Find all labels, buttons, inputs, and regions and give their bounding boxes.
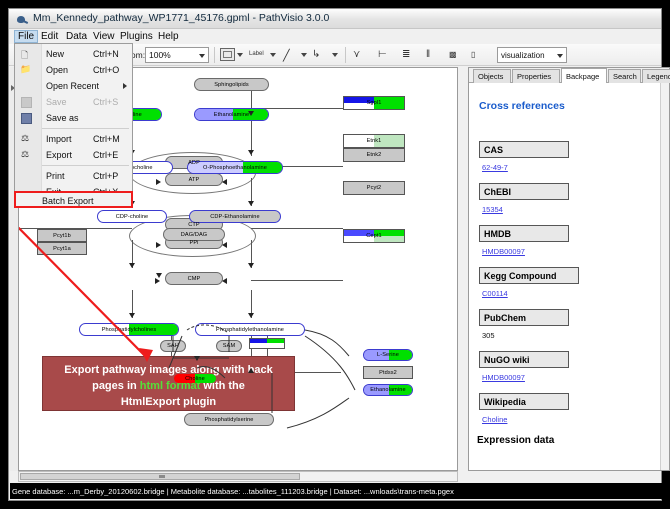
zoom-combobox[interactable]: 100% <box>145 47 209 63</box>
visualization-combobox[interactable]: visualization <box>497 47 567 63</box>
import-icon: ⚖ <box>21 133 29 144</box>
expression-data-title: Expression data <box>477 435 554 446</box>
file-menu-popup[interactable]: 🗋 New Ctrl+N 📁 Open Ctrl+O Open Recent S… <box>14 43 133 205</box>
export-icon: ⚖ <box>21 149 29 160</box>
menu-item-batch-export[interactable]: Batch Export <box>14 191 133 208</box>
menu-item-new-label: New <box>46 49 64 59</box>
xref-source-chebi: ChEBI <box>479 183 569 200</box>
common-height-icon: ▯ <box>471 50 475 59</box>
xref-value-wikipedia[interactable]: Choline <box>482 415 507 424</box>
chevron-down-icon <box>270 53 276 57</box>
status-bar: Gene database: ...m_Derby_20120602.bridg… <box>10 483 662 499</box>
tab-legend[interactable]: Legend <box>642 69 670 83</box>
side-panel: Objects Properties Backpage Search Legen… <box>468 67 670 471</box>
menu-item-print-label: Print <box>46 171 65 181</box>
xref-source-wikipedia: Wikipedia <box>479 393 569 410</box>
distribute-vertical-icon: ≣ <box>402 49 410 60</box>
pathvisio-icon <box>15 13 28 26</box>
menu-item-export[interactable]: ⚖ Export Ctrl+E <box>15 147 132 163</box>
menu-plugins[interactable]: Plugins <box>116 30 157 43</box>
title-bar: Mm_Kennedy_pathway_WP1771_45176.gpml - P… <box>9 9 661 29</box>
menu-item-print-shortcut: Ctrl+P <box>93 171 118 181</box>
open-folder-icon: 📁 <box>20 64 31 75</box>
xref-value-chebi[interactable]: 15354 <box>482 205 503 214</box>
common-width-button[interactable]: ▩ <box>449 47 463 63</box>
screenshot-root: Mm_Kennedy_pathway_WP1771_45176.gpml - P… <box>0 0 670 509</box>
zoom-value: 100% <box>149 50 171 60</box>
menu-item-batch-export-label: Batch Export <box>42 196 94 206</box>
menu-data[interactable]: Data <box>62 30 91 43</box>
gene-box-icon <box>220 48 235 61</box>
align-top-button[interactable]: ⋎ <box>353 47 367 63</box>
canvas-horizontal-scrollbar[interactable] <box>18 471 458 482</box>
tab-search[interactable]: Search <box>608 69 641 83</box>
label-tool-button[interactable]: Label <box>249 47 279 63</box>
line-tool-button[interactable]: ╱ <box>283 47 309 63</box>
tab-backpage[interactable]: Backpage <box>561 68 607 83</box>
menu-separator <box>42 128 129 129</box>
menu-item-print[interactable]: Print Ctrl+P <box>15 168 132 184</box>
menu-item-export-label: Export <box>46 150 72 160</box>
chevron-down-icon <box>332 53 338 57</box>
chevron-down-icon <box>237 53 243 57</box>
xref-value-pubchem: 305 <box>482 331 495 340</box>
menu-item-open[interactable]: 📁 Open Ctrl+O <box>15 62 132 78</box>
menu-item-export-shortcut: Ctrl+E <box>93 150 118 160</box>
menu-help[interactable]: Help <box>154 30 183 43</box>
common-height-button[interactable]: ▯ <box>471 47 485 63</box>
menu-item-import-label: Import <box>46 134 72 144</box>
save-as-icon <box>21 113 32 124</box>
distribute-horizontal-icon: ‖ <box>426 49 430 60</box>
gene-product-tool-button[interactable] <box>220 47 246 63</box>
tab-objects[interactable]: Objects <box>473 69 511 83</box>
xref-source-cas: CAS <box>479 141 569 158</box>
chevron-down-icon <box>199 54 205 58</box>
menu-item-new-shortcut: Ctrl+N <box>93 49 119 59</box>
xref-source-pubchem: PubChem <box>479 309 569 326</box>
menu-item-import[interactable]: ⚖ Import Ctrl+M <box>15 131 132 147</box>
line-icon: ╱ <box>283 49 290 62</box>
menu-item-import-shortcut: Ctrl+M <box>93 134 120 144</box>
menu-item-save-shortcut: Ctrl+S <box>93 97 118 107</box>
xref-value-cas[interactable]: 62-49-7 <box>482 163 508 172</box>
chevron-down-icon <box>301 53 307 57</box>
menu-item-save-as[interactable]: Save as <box>15 110 132 126</box>
menu-file[interactable]: File <box>14 30 38 43</box>
xref-source-hmdb: HMDB <box>479 225 569 242</box>
tab-properties[interactable]: Properties <box>512 69 560 83</box>
chevron-right-icon <box>123 83 127 89</box>
align-left-button[interactable]: ⊢ <box>378 47 392 63</box>
side-panel-tabs: Objects Properties Backpage Search Legen… <box>469 68 669 83</box>
xref-value-hmdb[interactable]: HMDB00097 <box>482 247 525 256</box>
distribute-horizontal-button[interactable]: ‖ <box>426 47 440 63</box>
window-title: Mm_Kennedy_pathway_WP1771_45176.gpml - P… <box>33 12 329 24</box>
align-left-icon: ⊢ <box>378 49 387 60</box>
menu-edit[interactable]: Edit <box>37 30 62 43</box>
xref-value-nugo[interactable]: HMDB00097 <box>482 373 525 382</box>
menu-item-new[interactable]: 🗋 New Ctrl+N <box>15 46 132 62</box>
cross-references-title: Cross references <box>479 100 565 112</box>
menu-bar: File Edit Data View Plugins Help <box>9 29 661 44</box>
side-panel-scrollbar[interactable] <box>660 83 669 470</box>
menu-item-open-recent-label: Open Recent <box>46 81 99 91</box>
menu-separator <box>42 165 129 166</box>
menu-view[interactable]: View <box>89 30 119 43</box>
menu-item-open-label: Open <box>46 65 68 75</box>
menu-item-save-as-label: Save as <box>46 113 79 123</box>
menu-item-save: Save Ctrl+S <box>15 94 132 110</box>
interaction-tool-button[interactable]: ↳ <box>312 47 340 63</box>
backpage-content: Cross references CAS 62-49-7 ChEBI 15354… <box>469 83 669 470</box>
align-top-icon: ⋎ <box>353 49 360 60</box>
xref-value-kegg[interactable]: C00114 <box>482 289 508 298</box>
menu-item-open-shortcut: Ctrl+O <box>93 65 119 75</box>
scrollbar-grip <box>159 475 165 478</box>
distribute-vertical-button[interactable]: ≣ <box>402 47 416 63</box>
visualization-value: visualization <box>501 51 545 60</box>
menu-item-open-recent[interactable]: Open Recent <box>15 78 132 94</box>
common-width-icon: ▩ <box>449 50 457 59</box>
menu-item-save-label: Save <box>46 97 67 107</box>
xref-source-nugo: NuGO wiki <box>479 351 569 368</box>
xref-source-kegg: Kegg Compound <box>479 267 579 284</box>
interaction-icon: ↳ <box>312 49 320 60</box>
label-tool-label: Label <box>249 51 264 57</box>
save-disk-icon <box>21 97 32 108</box>
chevron-down-icon <box>557 54 563 58</box>
application-window: Mm_Kennedy_pathway_WP1771_45176.gpml - P… <box>8 8 662 501</box>
